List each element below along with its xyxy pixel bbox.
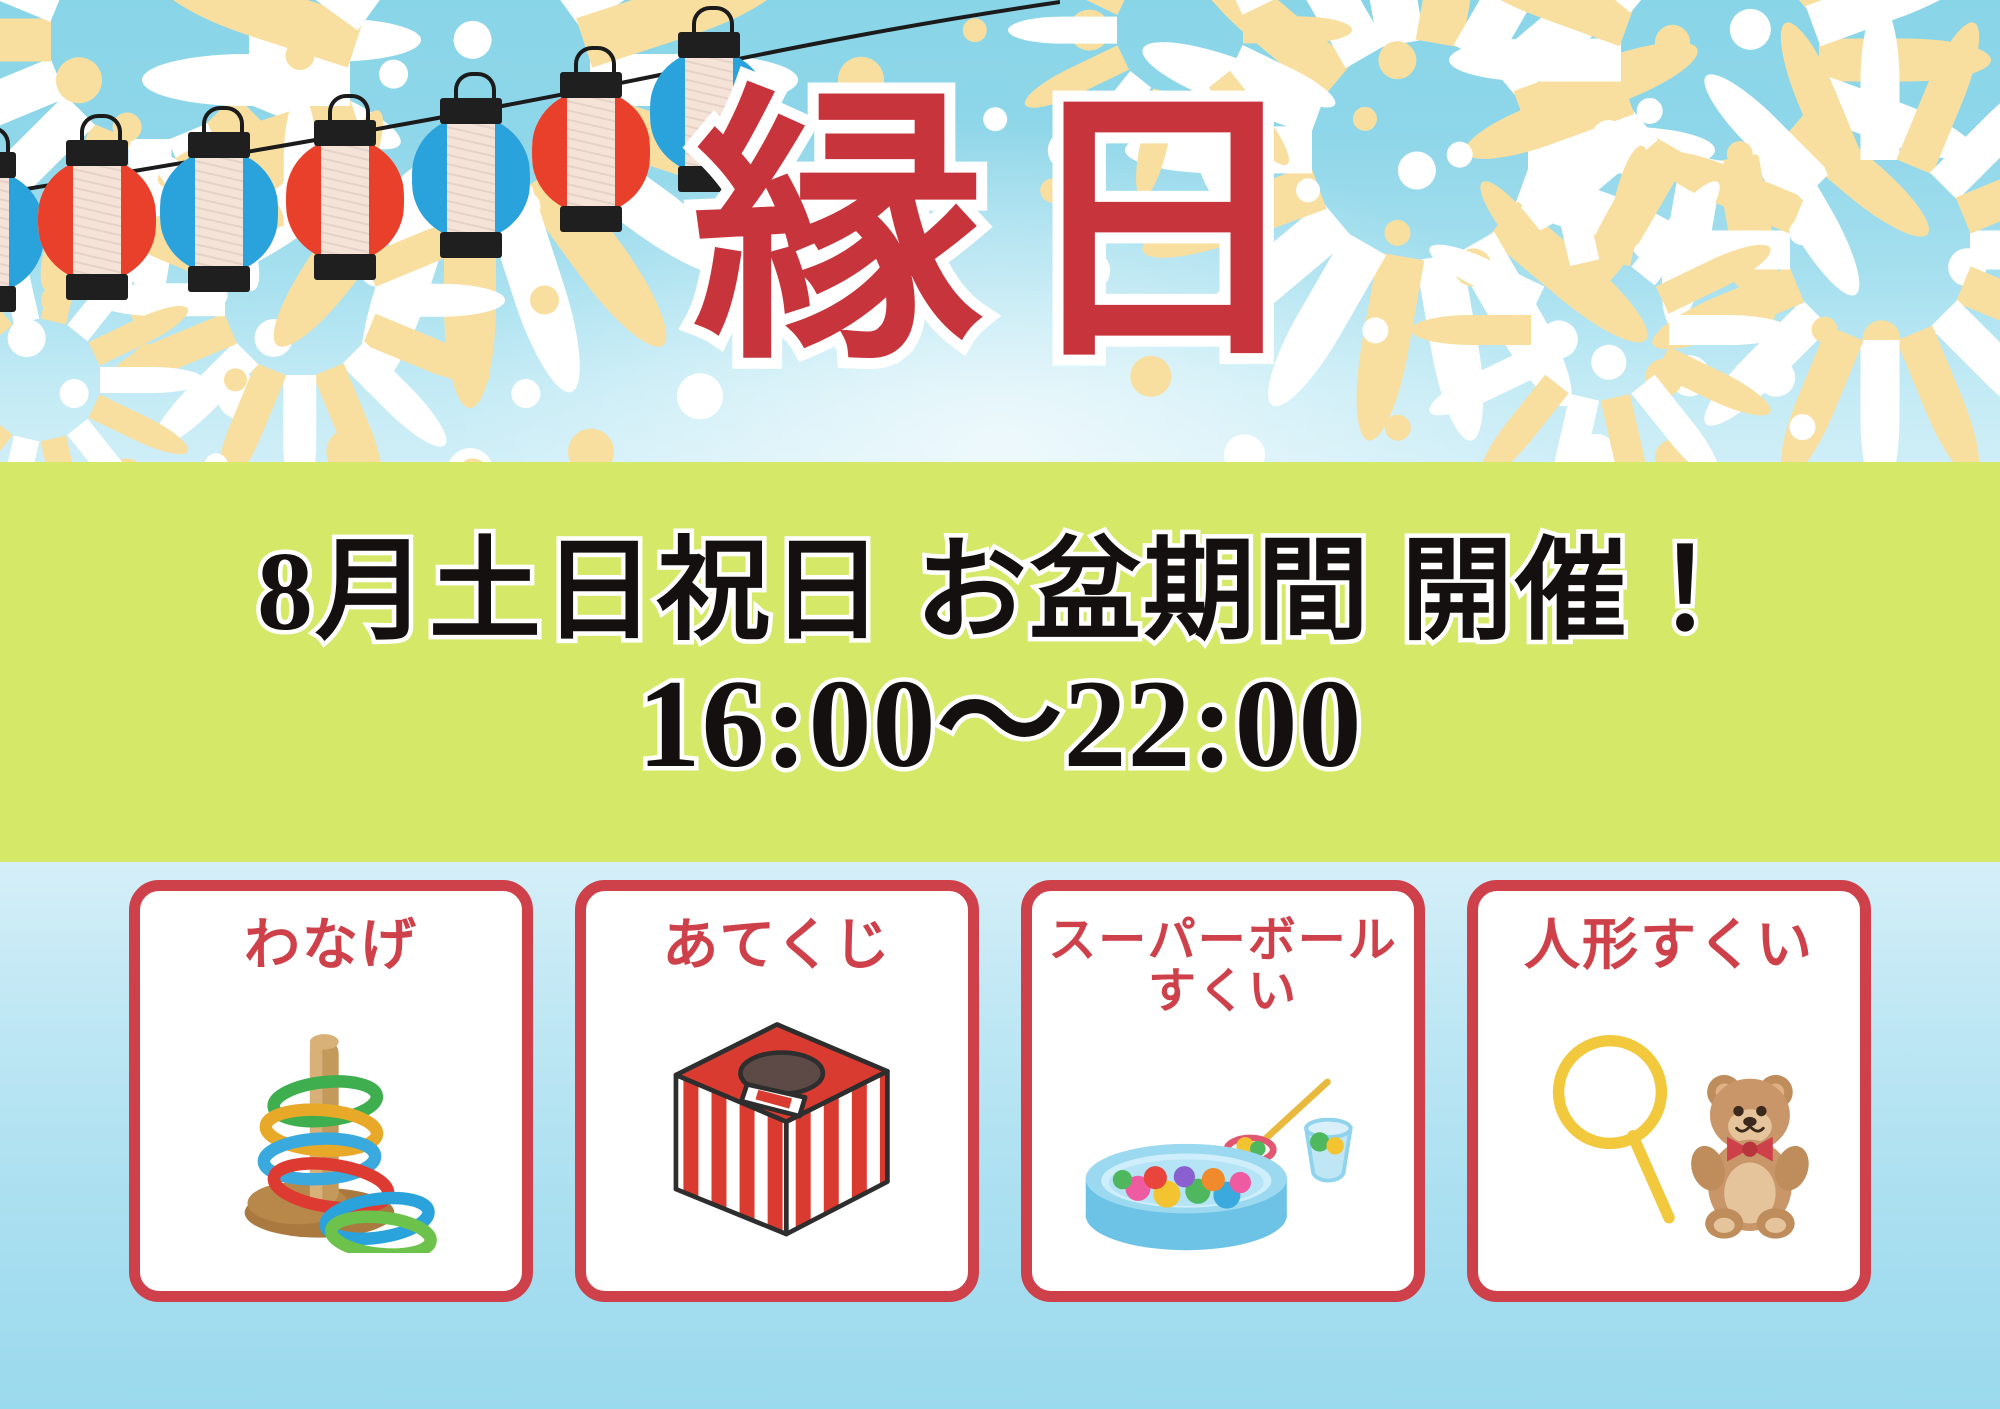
lantern-side-right bbox=[733, 50, 768, 174]
attraction-card-row: わなげ bbox=[0, 880, 2000, 1350]
lantern-cap bbox=[188, 132, 250, 158]
lantern-body bbox=[160, 150, 278, 274]
lantern-side-right bbox=[121, 158, 156, 282]
lantern-side-left bbox=[650, 50, 685, 174]
lantern-body bbox=[650, 50, 768, 174]
paper-lantern-icon bbox=[160, 132, 278, 292]
attraction-card-ring-toss[interactable]: わなげ bbox=[129, 880, 533, 1302]
lottery-box-icon bbox=[586, 975, 968, 1291]
lantern-base bbox=[188, 266, 250, 292]
lantern-side-right bbox=[243, 150, 278, 274]
lantern-base bbox=[678, 166, 740, 192]
lantern-cap bbox=[0, 152, 16, 178]
lantern-cap bbox=[560, 72, 622, 98]
lantern-base bbox=[440, 232, 502, 258]
card-title-ring-toss: わなげ bbox=[244, 915, 418, 975]
lantern-base bbox=[0, 286, 16, 312]
lantern-cap bbox=[440, 98, 502, 124]
paper-lantern-icon bbox=[532, 72, 650, 232]
card-title-superball-line2: すくい bbox=[1048, 966, 1398, 1017]
attraction-card-lottery[interactable]: あてくじ bbox=[575, 880, 979, 1302]
lantern-cap bbox=[314, 120, 376, 146]
card-title-lottery: あてくじ bbox=[662, 915, 891, 975]
garland-wire bbox=[0, 0, 1060, 310]
lantern-side-left bbox=[286, 138, 321, 262]
paper-lantern-icon bbox=[38, 140, 156, 300]
lantern-side-right bbox=[495, 116, 530, 240]
card-title-doll-scoop: 人形すくい bbox=[1524, 915, 1814, 975]
ring-toss-icon bbox=[140, 975, 522, 1291]
lantern-base bbox=[314, 254, 376, 280]
superball-scoop-icon bbox=[1032, 1018, 1414, 1291]
lantern-side-left bbox=[38, 158, 73, 282]
lantern-side-left bbox=[412, 116, 447, 240]
lantern-base bbox=[66, 274, 128, 300]
lantern-base bbox=[560, 206, 622, 232]
paper-lantern-icon bbox=[412, 98, 530, 258]
attraction-card-doll-scoop[interactable]: 人形すくい bbox=[1467, 880, 1871, 1302]
lantern-side-left bbox=[532, 90, 567, 214]
paper-lantern-icon bbox=[650, 32, 768, 192]
lantern-body bbox=[286, 138, 404, 262]
lantern-body bbox=[532, 90, 650, 214]
schedule-dates: 8月土日祝日 お盆期間 開催！ bbox=[257, 536, 1743, 648]
lantern-body bbox=[412, 116, 530, 240]
card-title-superball-line1: スーパーボール bbox=[1048, 915, 1398, 966]
schedule-band: 8月土日祝日 お盆期間 開催！ 16:00〜22:00 bbox=[0, 462, 2000, 862]
doll-scoop-icon bbox=[1478, 975, 1860, 1291]
schedule-hours: 16:00〜22:00 bbox=[638, 662, 1363, 788]
lantern-cap bbox=[66, 140, 128, 166]
lantern-garland bbox=[0, 0, 1060, 310]
festival-poster: 縁日 8月土日祝日 お盆期間 開催！ 16:00〜22:00 わなげ bbox=[0, 0, 2000, 1409]
card-title-superball: スーパーボール すくい bbox=[1048, 915, 1398, 1018]
paper-lantern-icon bbox=[286, 120, 404, 280]
attraction-card-superball[interactable]: スーパーボール すくい bbox=[1021, 880, 1425, 1302]
lantern-side-right bbox=[615, 90, 650, 214]
lantern-body bbox=[38, 158, 156, 282]
lantern-side-left bbox=[160, 150, 195, 274]
lantern-side-right bbox=[369, 138, 404, 262]
lantern-cap bbox=[678, 32, 740, 58]
